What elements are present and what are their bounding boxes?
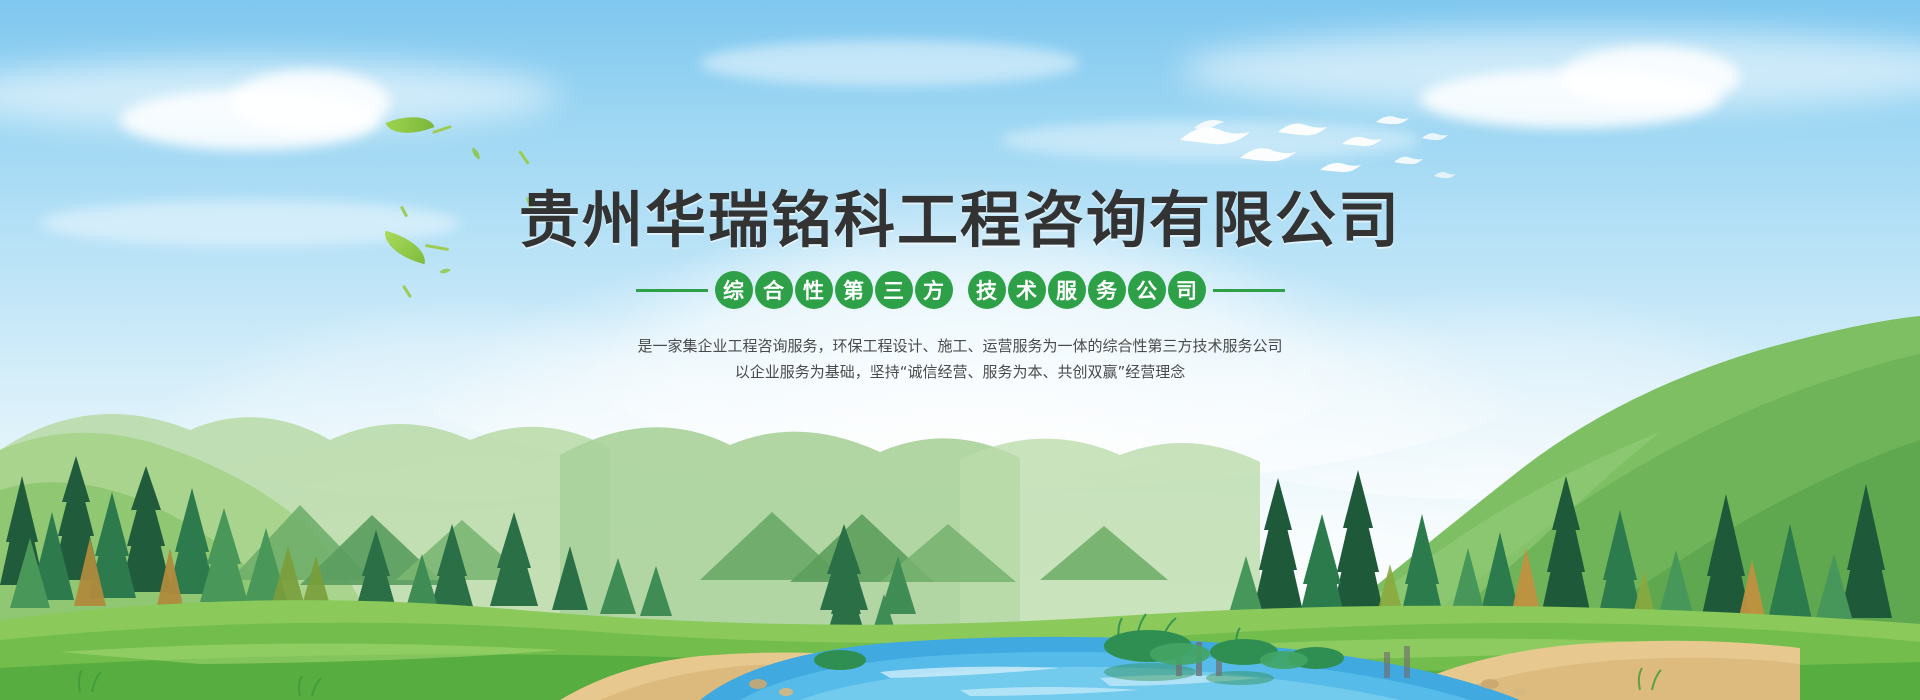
tagline-badge: 第 (835, 271, 873, 309)
tagline-badge: 综 (715, 271, 753, 309)
tagline-badge: 公 (1128, 271, 1166, 309)
tagline-rule-left (636, 289, 708, 292)
tagline-badge: 方 (915, 271, 953, 309)
description-line: 是一家集企业工程咨询服务，环保工程设计、施工、运营服务为一体的综合性第三方技术服… (0, 333, 1920, 359)
tagline-badge: 合 (755, 271, 793, 309)
hero-text-block: 贵州华瑞铭科工程咨询有限公司 综 合 性 第 三 方 技 术 服 务 公 司 是… (0, 190, 1920, 385)
page-title: 贵州华瑞铭科工程咨询有限公司 (0, 190, 1920, 251)
tagline-badge: 三 (875, 271, 913, 309)
tagline-badge: 术 (1008, 271, 1046, 309)
tagline-badge: 性 (795, 271, 833, 309)
tagline-badge: 司 (1168, 271, 1206, 309)
tagline-rule-right (1213, 289, 1285, 292)
description-block: 是一家集企业工程咨询服务，环保工程设计、施工、运营服务为一体的综合性第三方技术服… (0, 333, 1920, 385)
tagline-badge: 技 (968, 271, 1006, 309)
description-line: 以企业服务为基础，坚持“诚信经营、服务为本、共创双赢”经营理念 (0, 359, 1920, 385)
tagline-badges: 综 合 性 第 三 方 技 术 服 务 公 司 (714, 271, 1207, 309)
hero-banner: 贵州华瑞铭科工程咨询有限公司 综 合 性 第 三 方 技 术 服 务 公 司 是… (0, 0, 1920, 700)
tagline-badge: 务 (1088, 271, 1126, 309)
flying-birds-group (1170, 100, 1460, 190)
tagline-badge: 服 (1048, 271, 1086, 309)
tagline-badge-row: 综 合 性 第 三 方 技 术 服 务 公 司 (0, 271, 1920, 309)
